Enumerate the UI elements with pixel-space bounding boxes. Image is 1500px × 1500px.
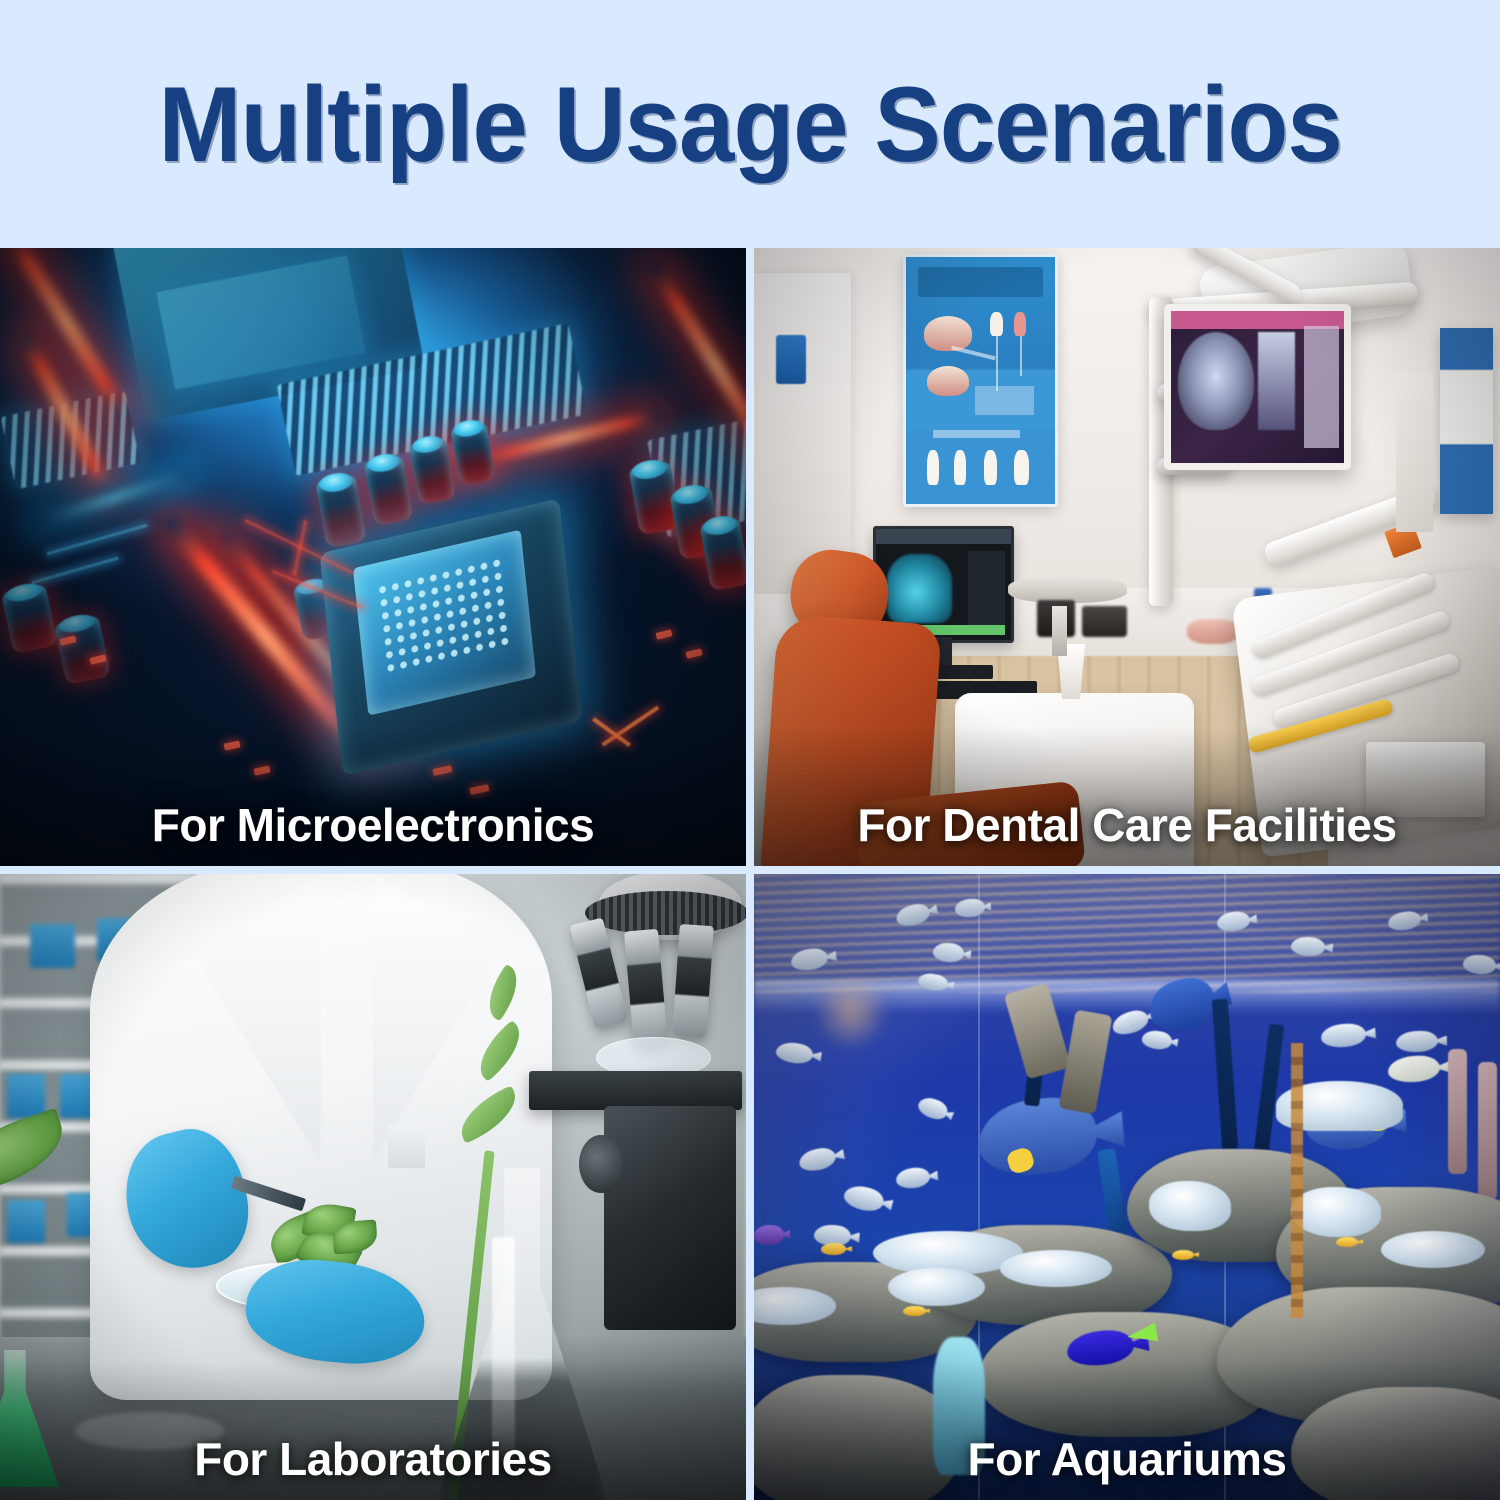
tile-caption-dental-care: For Dental Care Facilities <box>754 798 1500 852</box>
purple-fish <box>754 1225 784 1245</box>
panoramic-xray <box>1178 332 1254 430</box>
plate-coral <box>1381 1231 1485 1269</box>
circuit-board-photo <box>0 248 746 866</box>
dark-equipment-box-2 <box>1082 606 1127 637</box>
jaw-xray-image <box>887 554 951 623</box>
instrument-tray <box>1008 576 1127 604</box>
yellow-fish-4 <box>1172 1250 1194 1260</box>
focus-knob <box>579 1135 623 1194</box>
light-flare <box>814 974 889 1049</box>
shelf-container-1 <box>7 1074 44 1118</box>
scenario-tile-dental-care[interactable]: For Dental Care Facilities <box>754 248 1500 866</box>
pink-coral-stick-1 <box>1448 1049 1467 1174</box>
measurement-strip <box>1291 1043 1303 1318</box>
objective-lens-2 <box>624 929 669 1049</box>
dental-education-poster <box>903 254 1058 507</box>
microscope-stage <box>529 1071 742 1110</box>
brain-coral <box>888 1268 985 1306</box>
cpu-die <box>353 530 536 716</box>
blue-binder <box>1440 328 1492 513</box>
coat-pocket <box>388 1124 425 1168</box>
staghorn-coral-2 <box>1291 1187 1381 1237</box>
yellow-fish-1 <box>821 1243 846 1254</box>
page-title: Multiple Usage Scenarios <box>158 71 1341 178</box>
objective-lens-3 <box>672 924 714 1038</box>
wall-shelf-items <box>1396 372 1433 533</box>
scenario-tile-laboratories[interactable]: For Laboratories <box>0 874 746 1500</box>
scenario-tile-microelectronics[interactable]: For Microelectronics <box>0 248 746 866</box>
tile-caption-laboratories: For Laboratories <box>0 1432 746 1486</box>
aquarium-photo <box>754 874 1500 1500</box>
usage-scenarios-page: Multiple Usage Scenarios <box>0 0 1500 1500</box>
scenario-tile-aquariums[interactable]: For Aquariums <box>754 874 1500 1500</box>
pink-coral-stick-2 <box>1478 1062 1497 1200</box>
microscope-focus-ring <box>585 891 746 935</box>
tile-caption-microelectronics: For Microelectronics <box>0 798 746 852</box>
microscope-body <box>604 1106 736 1331</box>
shelf-container-5 <box>7 1200 44 1244</box>
header-banner: Multiple Usage Scenarios <box>0 0 1500 248</box>
periapical-xray <box>1258 332 1296 430</box>
dental-model <box>1187 619 1239 644</box>
objective-lens-1 <box>570 917 629 1030</box>
shelf-container-8 <box>30 924 75 968</box>
xray-thumbnail-panel <box>1304 326 1339 448</box>
xray-software-screen <box>1171 311 1344 464</box>
wall-cupboard <box>754 273 851 594</box>
tile-caption-aquariums: For Aquariums <box>754 1432 1500 1486</box>
cup-filler-spout <box>1052 606 1067 655</box>
blue-bottle <box>776 335 806 384</box>
scenario-grid: For Microelectronics <box>0 248 1500 1500</box>
laboratory-photo <box>0 874 746 1500</box>
monitor-sidebar <box>968 551 1006 624</box>
cpu-die-contacts <box>376 555 513 676</box>
table-coral-2 <box>1000 1250 1112 1288</box>
arm-mounted-xray-display <box>1164 304 1351 471</box>
staghorn-coral-1 <box>1149 1181 1231 1231</box>
flask-highlight <box>492 1237 514 1462</box>
dental-clinic-photo <box>754 248 1500 866</box>
yellow-fish-2 <box>903 1306 925 1316</box>
